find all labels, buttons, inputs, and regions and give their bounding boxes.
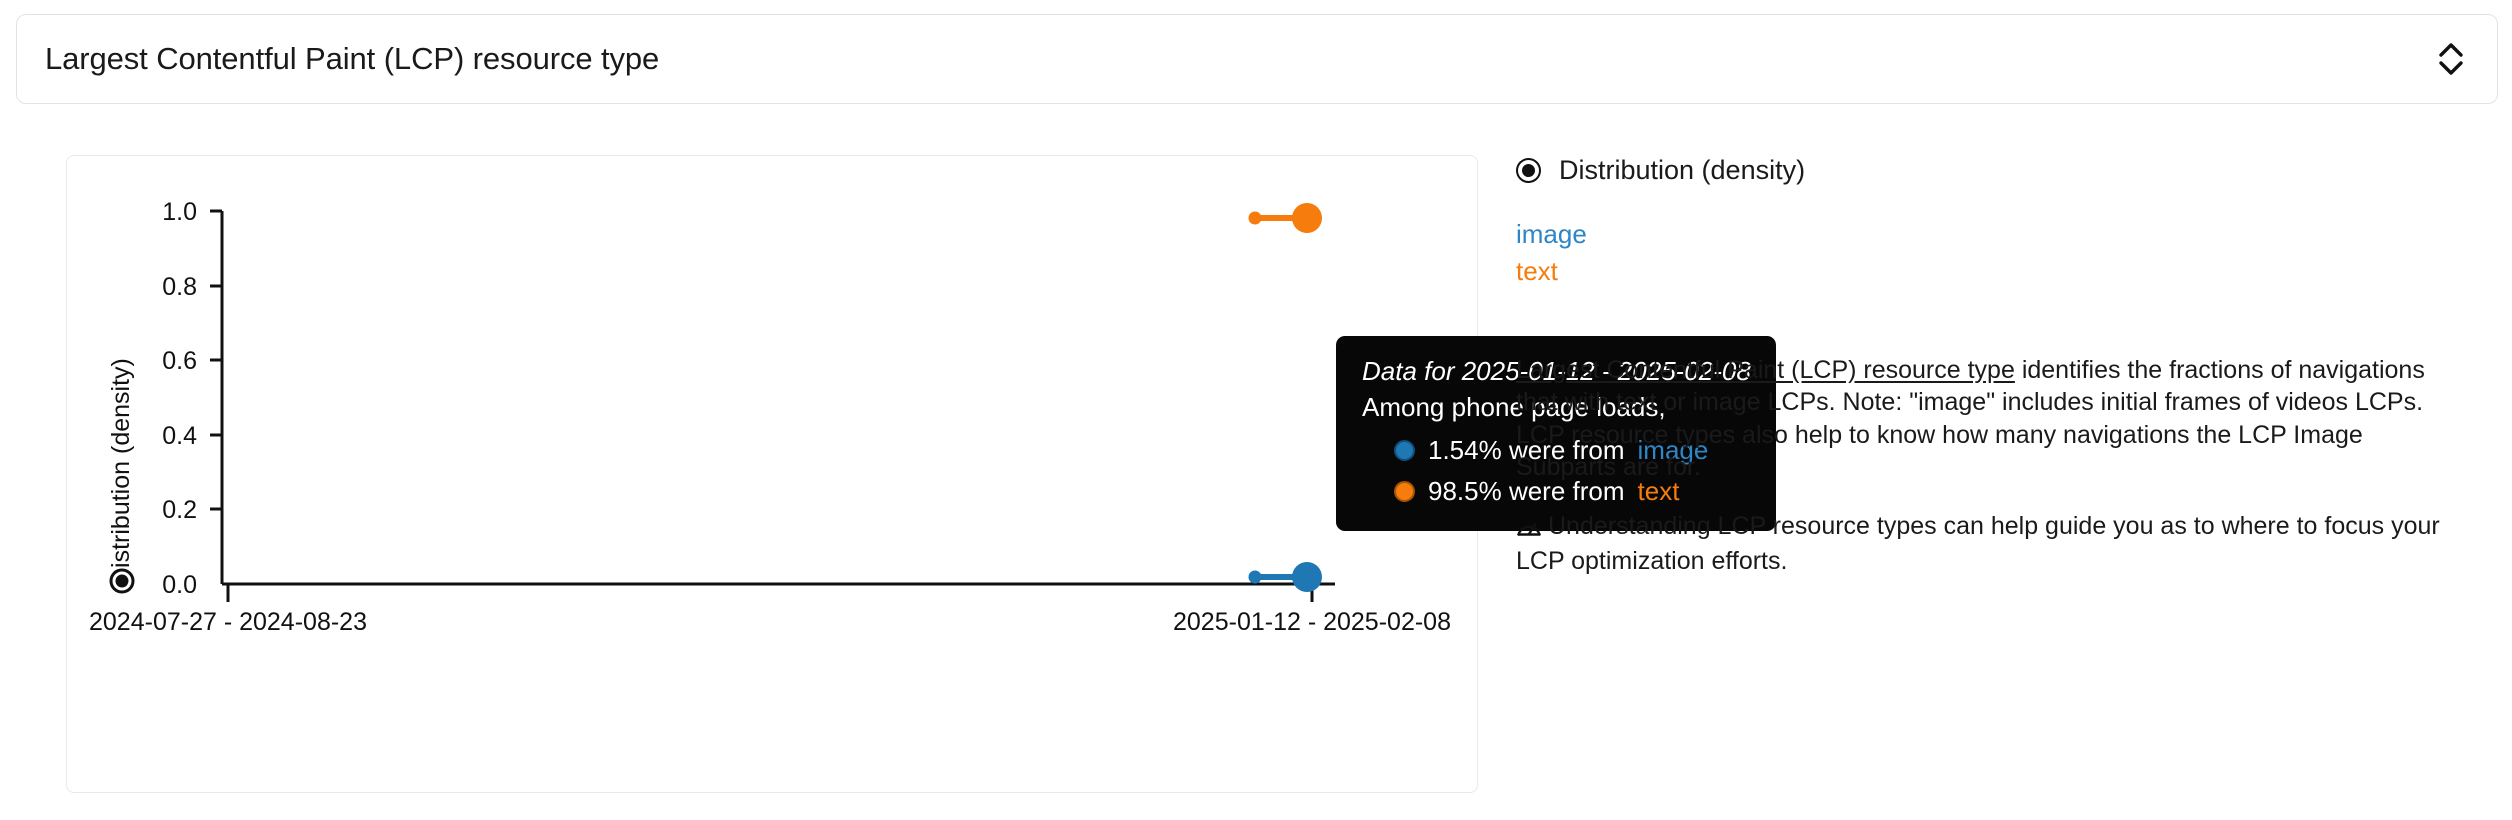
chevron-up-down-icon[interactable] (2431, 35, 2471, 83)
svg-text:0.0: 0.0 (162, 571, 197, 599)
distribution-chart[interactable]: Distribution (density) 1.0 0.8 0.6 0.4 0… (67, 156, 1476, 791)
y-axis-label: Distribution (density) (107, 358, 135, 592)
metric-tip: Understanding LCP resource types can hel… (1516, 510, 2451, 578)
series-text[interactable] (1249, 203, 1323, 233)
svg-text:0.8: 0.8 (162, 273, 197, 301)
svg-text:0.2: 0.2 (162, 496, 197, 524)
svg-text:0.4: 0.4 (162, 422, 197, 450)
chart-legend: image text (1516, 216, 2456, 290)
svg-text:0.6: 0.6 (162, 347, 197, 375)
svg-text:2025-01-12 - 2025-02-08: 2025-01-12 - 2025-02-08 (1173, 608, 1451, 636)
x-axis-ticks: 2024-07-27 - 2024-08-23 2025-01-12 - 202… (89, 584, 1451, 636)
tooltip-swatch-image-icon (1394, 440, 1415, 461)
radio-dot-icon (1522, 164, 1535, 177)
svg-text:Distribution (density): Distribution (density) (107, 358, 135, 586)
legend-item-text[interactable]: text (1516, 253, 2456, 290)
chart-panel: Distribution (density) 1.0 0.8 0.6 0.4 0… (66, 155, 1478, 793)
svg-text:1.0: 1.0 (162, 198, 197, 226)
speedometer-icon (1516, 513, 1542, 546)
metric-tip-text: Understanding LCP resource types can hel… (1516, 512, 2440, 576)
legend-item-image[interactable]: image (1516, 216, 2456, 253)
lcp-resource-type-widget: Largest Contentful Paint (LCP) resource … (0, 0, 2512, 820)
y-axis-ticks: 1.0 0.8 0.6 0.4 0.2 0.0 (162, 198, 222, 599)
metric-radio-label: Distribution (density) (1559, 155, 1805, 186)
metric-description-link[interactable]: Largest Contentful Paint (LCP) resource … (1516, 356, 2015, 384)
series-image[interactable] (1249, 562, 1323, 592)
metric-description: Largest Contentful Paint (LCP) resource … (1516, 354, 2451, 484)
radio-selected-icon[interactable] (1516, 158, 1541, 183)
side-panel: Distribution (density) image text Larges… (1516, 155, 2456, 578)
tooltip-swatch-text-icon (1394, 481, 1415, 502)
widget-header: Largest Contentful Paint (LCP) resource … (16, 14, 2498, 104)
metric-radio-distribution-density[interactable]: Distribution (density) (1516, 155, 2456, 186)
page-title: Largest Contentful Paint (LCP) resource … (17, 41, 659, 77)
svg-text:2024-07-27 - 2024-08-23: 2024-07-27 - 2024-08-23 (89, 608, 367, 636)
